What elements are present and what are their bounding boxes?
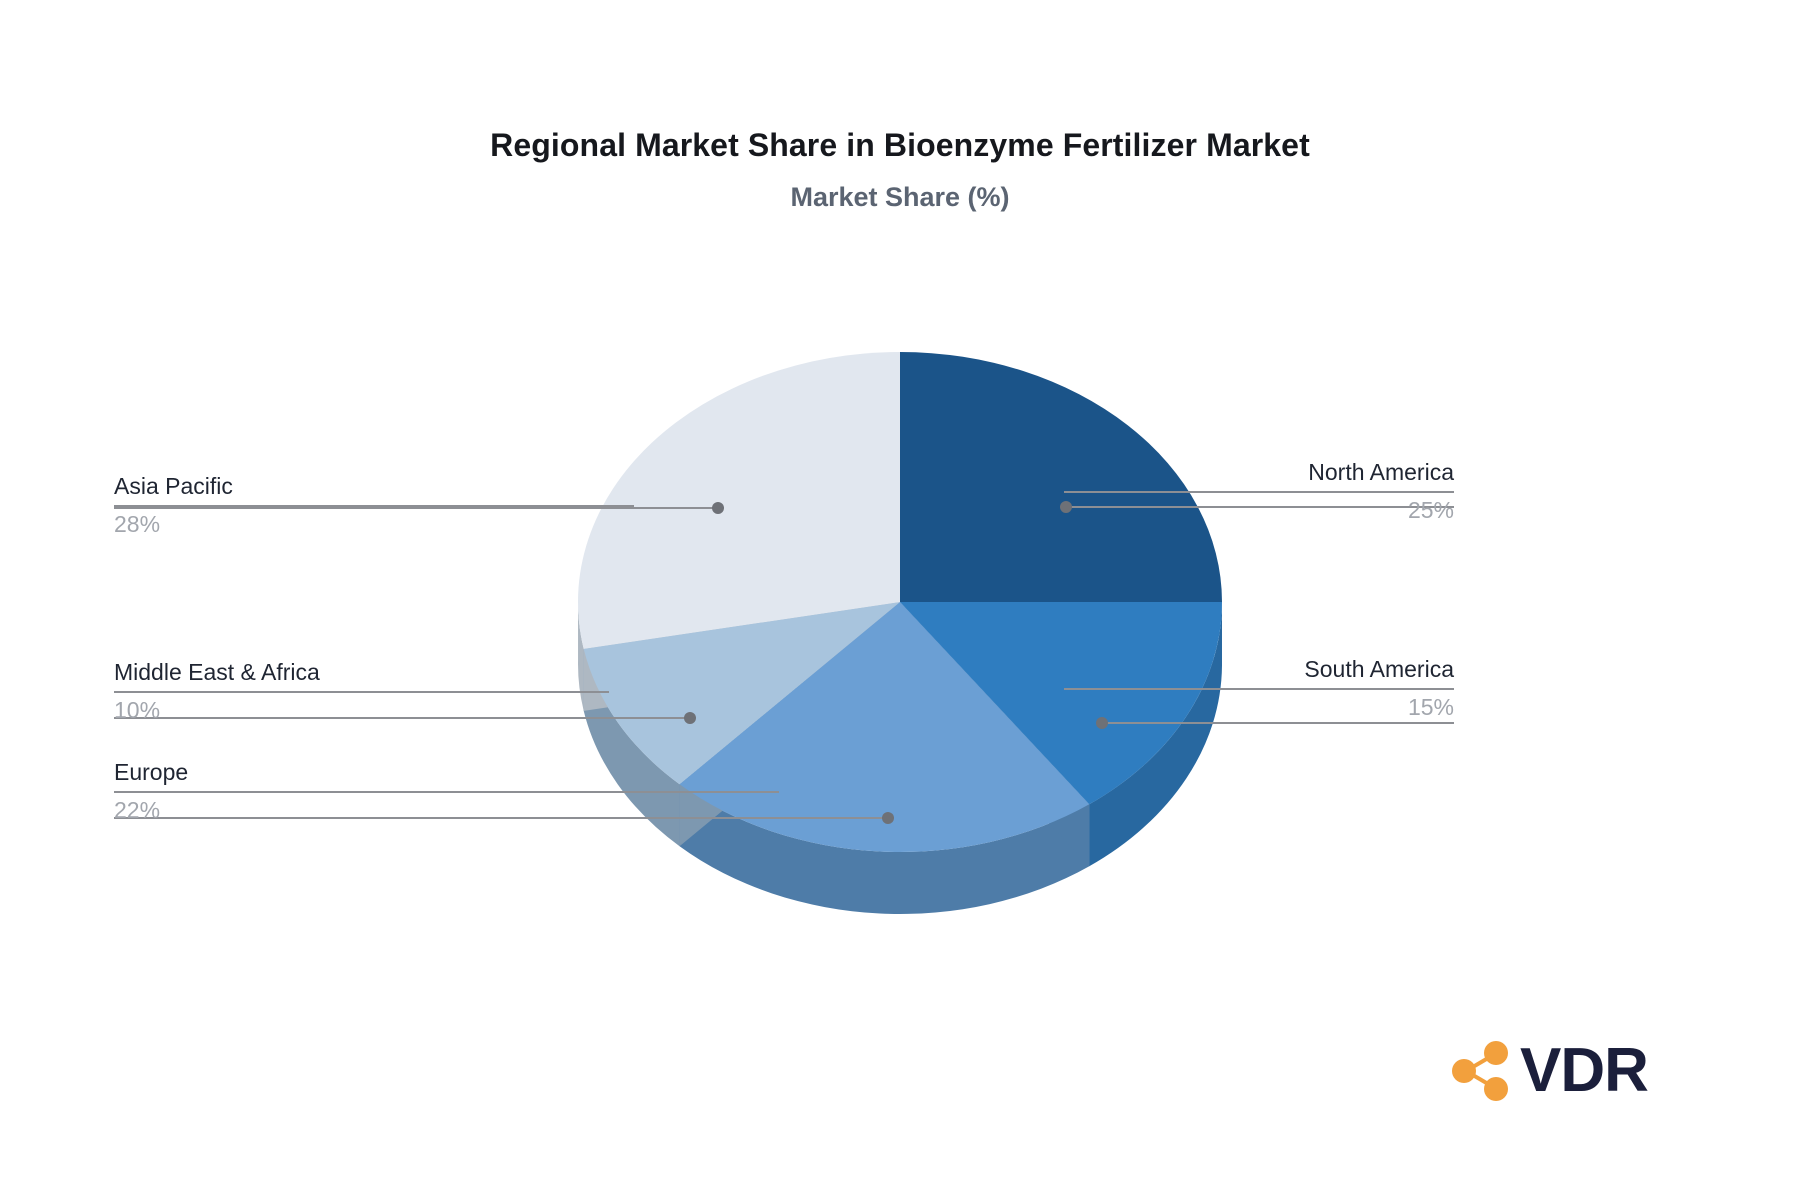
callout-europe: Europe 22%	[114, 758, 779, 825]
callout-south-america: South America 15%	[1064, 655, 1454, 722]
chart-title: Regional Market Share in Bioenzyme Ferti…	[0, 128, 1800, 163]
callout-rule	[114, 505, 634, 507]
vdr-logo-text: VDR	[1520, 1040, 1648, 1102]
callout-rule	[1064, 491, 1454, 493]
callout-middle-east-africa: Middle East & Africa 10%	[114, 658, 609, 725]
callout-value-europe: 22%	[114, 796, 779, 825]
callout-value-asia-pacific: 28%	[114, 510, 634, 539]
vdr-logo: VDR	[1448, 1040, 1648, 1102]
chart-subtitle: Market Share (%)	[0, 183, 1800, 213]
callout-rule	[114, 691, 609, 693]
callout-label-middle-east-africa: Middle East & Africa	[114, 658, 609, 687]
pie-chart: North America 25%South America 15%Europe…	[540, 330, 1260, 930]
callout-asia-pacific: Asia Pacific 28%	[114, 472, 634, 539]
callout-label-south-america: South America	[1064, 655, 1454, 684]
callout-north-america: North America 25%	[1064, 458, 1454, 525]
callout-value-south-america: 15%	[1064, 693, 1454, 722]
callout-rule	[1064, 688, 1454, 690]
callout-rule	[114, 791, 779, 793]
callout-value-north-america: 25%	[1064, 496, 1454, 525]
callout-label-europe: Europe	[114, 758, 779, 787]
share-nodes-icon	[1448, 1040, 1514, 1102]
chart-canvas: Regional Market Share in Bioenzyme Ferti…	[0, 0, 1800, 1196]
pie-svg: North America 25%South America 15%Europe…	[540, 330, 1260, 930]
callout-label-asia-pacific: Asia Pacific	[114, 472, 634, 501]
callout-label-north-america: North America	[1064, 458, 1454, 487]
callout-value-middle-east-africa: 10%	[114, 696, 609, 725]
title-block: Regional Market Share in Bioenzyme Ferti…	[0, 128, 1800, 213]
